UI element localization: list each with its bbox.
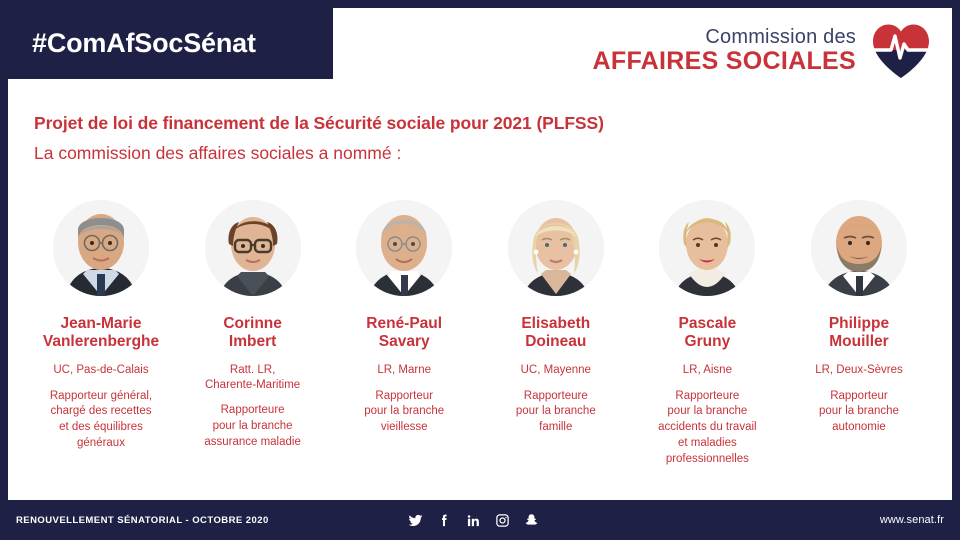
- twitter-icon[interactable]: [408, 513, 423, 528]
- person-card: Corinne Imbert Ratt. LR,Charente-Maritim…: [178, 200, 328, 451]
- commission-logo: Commission des AFFAIRES SOCIALES: [593, 22, 932, 80]
- person-card: Jean-Marie Vanlerenberghe UC, Pas-de-Cal…: [26, 200, 176, 452]
- footer-website[interactable]: www.senat.fr: [880, 514, 944, 526]
- person-name-line1: Jean-Marie: [43, 315, 159, 333]
- person-party: UC, Pas-de-Calais: [53, 363, 148, 378]
- footer-social-links: [408, 513, 539, 528]
- person-name: Corinne Imbert: [223, 315, 282, 352]
- person-name: Philippe Mouiller: [829, 315, 889, 352]
- portrait-rene-paul-savary: [356, 200, 452, 296]
- person-name: Pascale Gruny: [679, 315, 737, 352]
- person-name-line2: Savary: [366, 333, 442, 351]
- person-name-line1: René-Paul: [366, 315, 442, 333]
- footer-event-label: RENOUVELLEMENT SÉNATORIAL - OCTOBRE 2020: [0, 515, 269, 526]
- page-subtitle: La commission des affaires sociales a no…: [34, 143, 604, 164]
- logo-line-affaires-sociales: AFFAIRES SOCIALES: [593, 48, 856, 74]
- person-name-line2: Imbert: [223, 333, 282, 351]
- person-name: Elisabeth Doineau: [521, 315, 590, 352]
- person-name: René-Paul Savary: [366, 315, 442, 352]
- slide-root: #ComAfSocSénat Commission des AFFAIRES S…: [0, 0, 960, 540]
- rapporteurs-row: Jean-Marie Vanlerenberghe UC, Pas-de-Cal…: [16, 200, 944, 468]
- hashtag-text: #ComAfSocSénat: [8, 28, 256, 59]
- person-party: UC, Mayenne: [521, 363, 591, 378]
- title-block: Projet de loi de financement de la Sécur…: [34, 113, 604, 164]
- hashtag-banner: #ComAfSocSénat: [8, 8, 333, 79]
- person-card: René-Paul Savary LR, Marne Rapporteurpou…: [329, 200, 479, 436]
- person-party: LR, Marne: [377, 363, 431, 378]
- person-card: Pascale Gruny LR, Aisne Rapporteurepour …: [632, 200, 782, 468]
- person-role: Rapporteurepour la brancheaccidents du t…: [658, 389, 756, 468]
- facebook-icon[interactable]: [437, 513, 452, 528]
- person-name-line1: Corinne: [223, 315, 282, 333]
- person-card: Elisabeth Doineau UC, Mayenne Rapporteur…: [481, 200, 631, 436]
- person-name-line2: Doineau: [521, 333, 590, 351]
- portrait-elisabeth-doineau: [508, 200, 604, 296]
- person-party: Ratt. LR,Charente-Maritime: [205, 363, 300, 393]
- person-role: Rapporteurepour la branchefamille: [516, 389, 596, 437]
- heart-pulse-icon: [870, 22, 932, 80]
- person-party: LR, Deux-Sèvres: [815, 363, 903, 378]
- person-party: LR, Aisne: [683, 363, 732, 378]
- person-card: Philippe Mouiller LR, Deux-Sèvres Rappor…: [784, 200, 934, 436]
- person-name-line1: Philippe: [829, 315, 889, 333]
- portrait-philippe-mouiller: [811, 200, 907, 296]
- footer-bar: RENOUVELLEMENT SÉNATORIAL - OCTOBRE 2020…: [0, 500, 960, 540]
- person-name-line2: Vanlerenberghe: [43, 333, 159, 351]
- portrait-corinne-imbert: [205, 200, 301, 296]
- portrait-pascale-gruny: [659, 200, 755, 296]
- white-content-panel: #ComAfSocSénat Commission des AFFAIRES S…: [8, 8, 952, 500]
- person-name-line2: Gruny: [679, 333, 737, 351]
- snapchat-icon[interactable]: [524, 513, 539, 528]
- person-name-line1: Pascale: [679, 315, 737, 333]
- portrait-jean-marie-vanlerenberghe: [53, 200, 149, 296]
- person-role: Rapporteur général,chargé des recetteset…: [50, 389, 152, 452]
- page-title: Projet de loi de financement de la Sécur…: [34, 113, 604, 134]
- person-name-line1: Elisabeth: [521, 315, 590, 333]
- instagram-icon[interactable]: [495, 513, 510, 528]
- person-role: Rapporteurpour la branchevieillesse: [364, 389, 444, 437]
- logo-line-commission-des: Commission des: [593, 27, 856, 48]
- person-role: Rapporteurpour la brancheautonomie: [819, 389, 899, 437]
- linkedin-icon[interactable]: [466, 513, 481, 528]
- person-name-line2: Mouiller: [829, 333, 889, 351]
- person-role: Rapporteurepour la brancheassurance mala…: [204, 403, 301, 451]
- logo-text-group: Commission des AFFAIRES SOCIALES: [593, 27, 856, 74]
- person-name: Jean-Marie Vanlerenberghe: [43, 315, 159, 352]
